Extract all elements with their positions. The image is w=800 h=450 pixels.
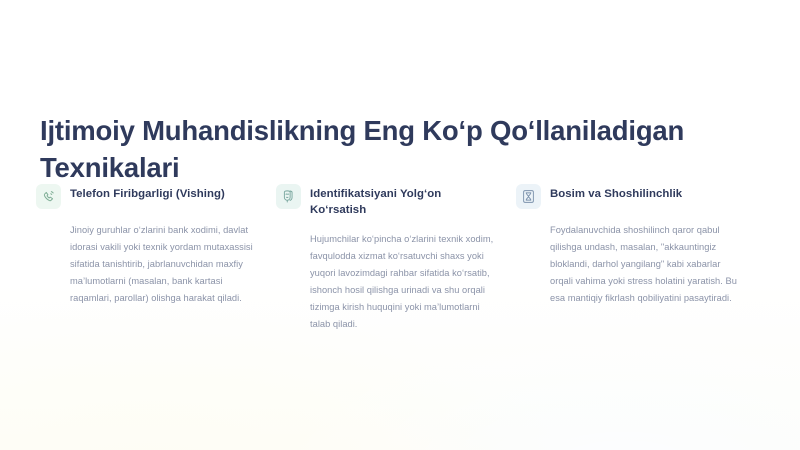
column-header: Identifikatsiyani Yolg‘on Ko‘rsatish bbox=[276, 184, 498, 218]
techniques-columns: Telefon Firibgarligi (Vishing) Jinoiy gu… bbox=[36, 184, 766, 342]
column-title: Telefon Firibgarligi (Vishing) bbox=[70, 184, 225, 203]
technique-column-vishing: Telefon Firibgarligi (Vishing) Jinoiy gu… bbox=[36, 184, 276, 342]
masks-disguise-icon bbox=[276, 184, 301, 209]
column-header: Bosim va Shoshilinchlik bbox=[516, 184, 738, 209]
slide-root: Ijtimoiy Muhandislikning Eng Ko‘p Qo‘lla… bbox=[0, 0, 800, 450]
page-title: Ijtimoiy Muhandislikning Eng Ko‘p Qo‘lla… bbox=[40, 113, 740, 186]
phone-call-icon bbox=[36, 184, 61, 209]
hourglass-timer-icon bbox=[516, 184, 541, 209]
column-header: Telefon Firibgarligi (Vishing) bbox=[36, 184, 258, 209]
column-body-text: Hujumchilar ko‘pincha o‘zlarini texnik x… bbox=[310, 231, 498, 332]
column-title: Identifikatsiyani Yolg‘on Ko‘rsatish bbox=[310, 184, 498, 218]
column-body-text: Jinoiy guruhlar o‘zlarini bank xodimi, d… bbox=[70, 222, 258, 307]
technique-column-urgency: Bosim va Shoshilinchlik Foydalanuvchida … bbox=[516, 184, 756, 342]
column-body-text: Foydalanuvchida shoshilinch qaror qabul … bbox=[550, 222, 738, 307]
technique-column-impersonation: Identifikatsiyani Yolg‘on Ko‘rsatish Huj… bbox=[276, 184, 516, 342]
column-title: Bosim va Shoshilinchlik bbox=[550, 184, 682, 203]
